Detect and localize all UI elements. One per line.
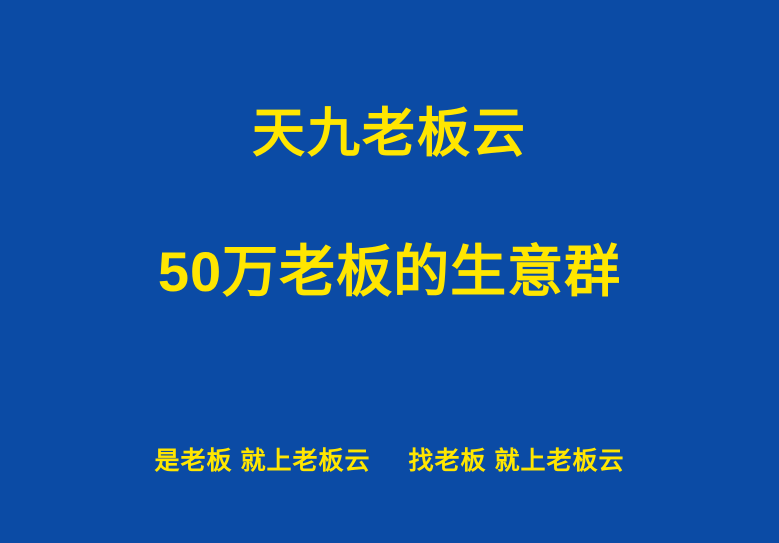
tagline-row: 是老板 就上老板云 找老板 就上老板云	[0, 441, 779, 477]
tagline-right: 找老板 就上老板云	[409, 441, 625, 477]
tagline-left: 是老板 就上老板云	[155, 441, 371, 477]
page-title: 天九老板云	[0, 104, 779, 165]
promo-slide: 天九老板云 50万老板的生意群 是老板 就上老板云 找老板 就上老板云	[0, 0, 779, 543]
page-subtitle: 50万老板的生意群	[0, 240, 779, 304]
